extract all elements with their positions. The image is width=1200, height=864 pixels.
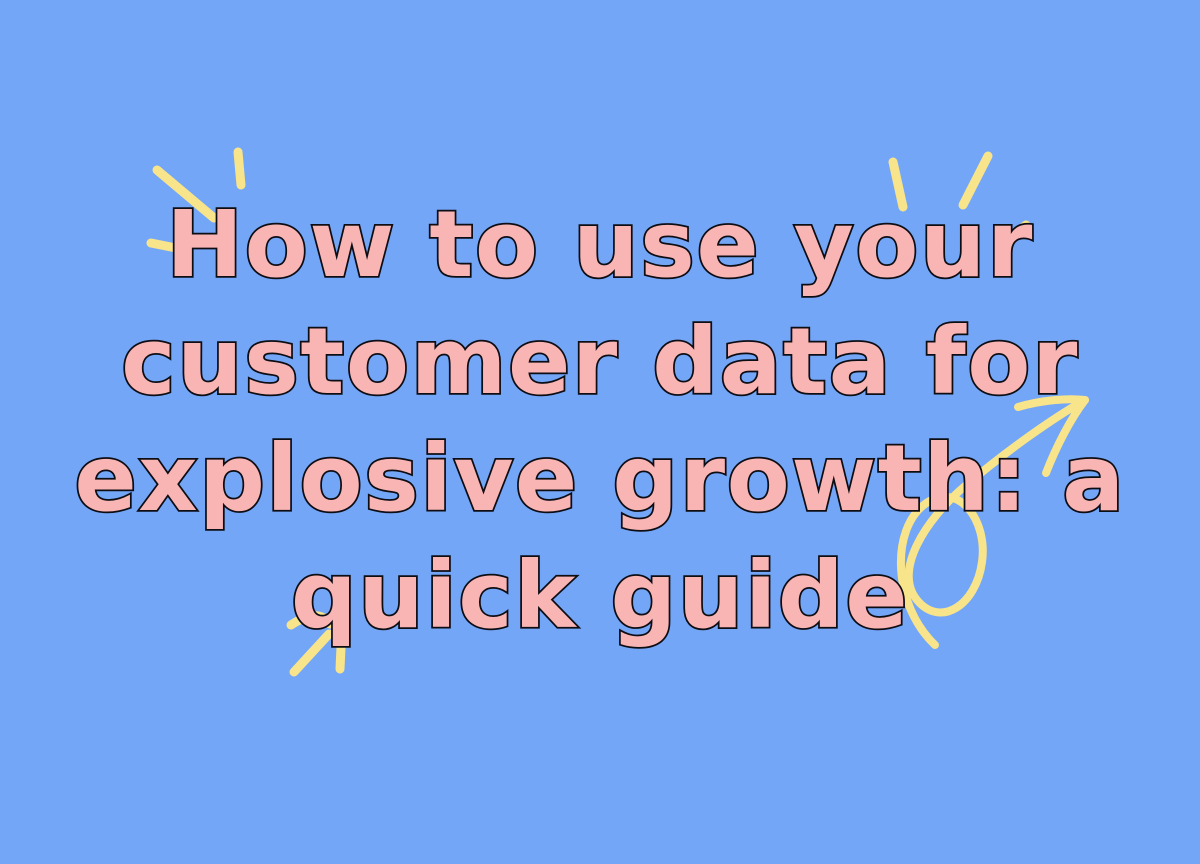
- headline-line-4: quick guide: [0, 537, 1200, 654]
- headline-line-1: How to use your: [0, 186, 1200, 303]
- headline-line-2: customer data for: [0, 303, 1200, 420]
- poster-canvas: How to use your customer data for explos…: [0, 0, 1200, 864]
- short-vertical-ray: [238, 152, 241, 185]
- headline-line-3: explosive growth: a: [0, 420, 1200, 537]
- page-title: How to use your customer data for explos…: [0, 186, 1200, 654]
